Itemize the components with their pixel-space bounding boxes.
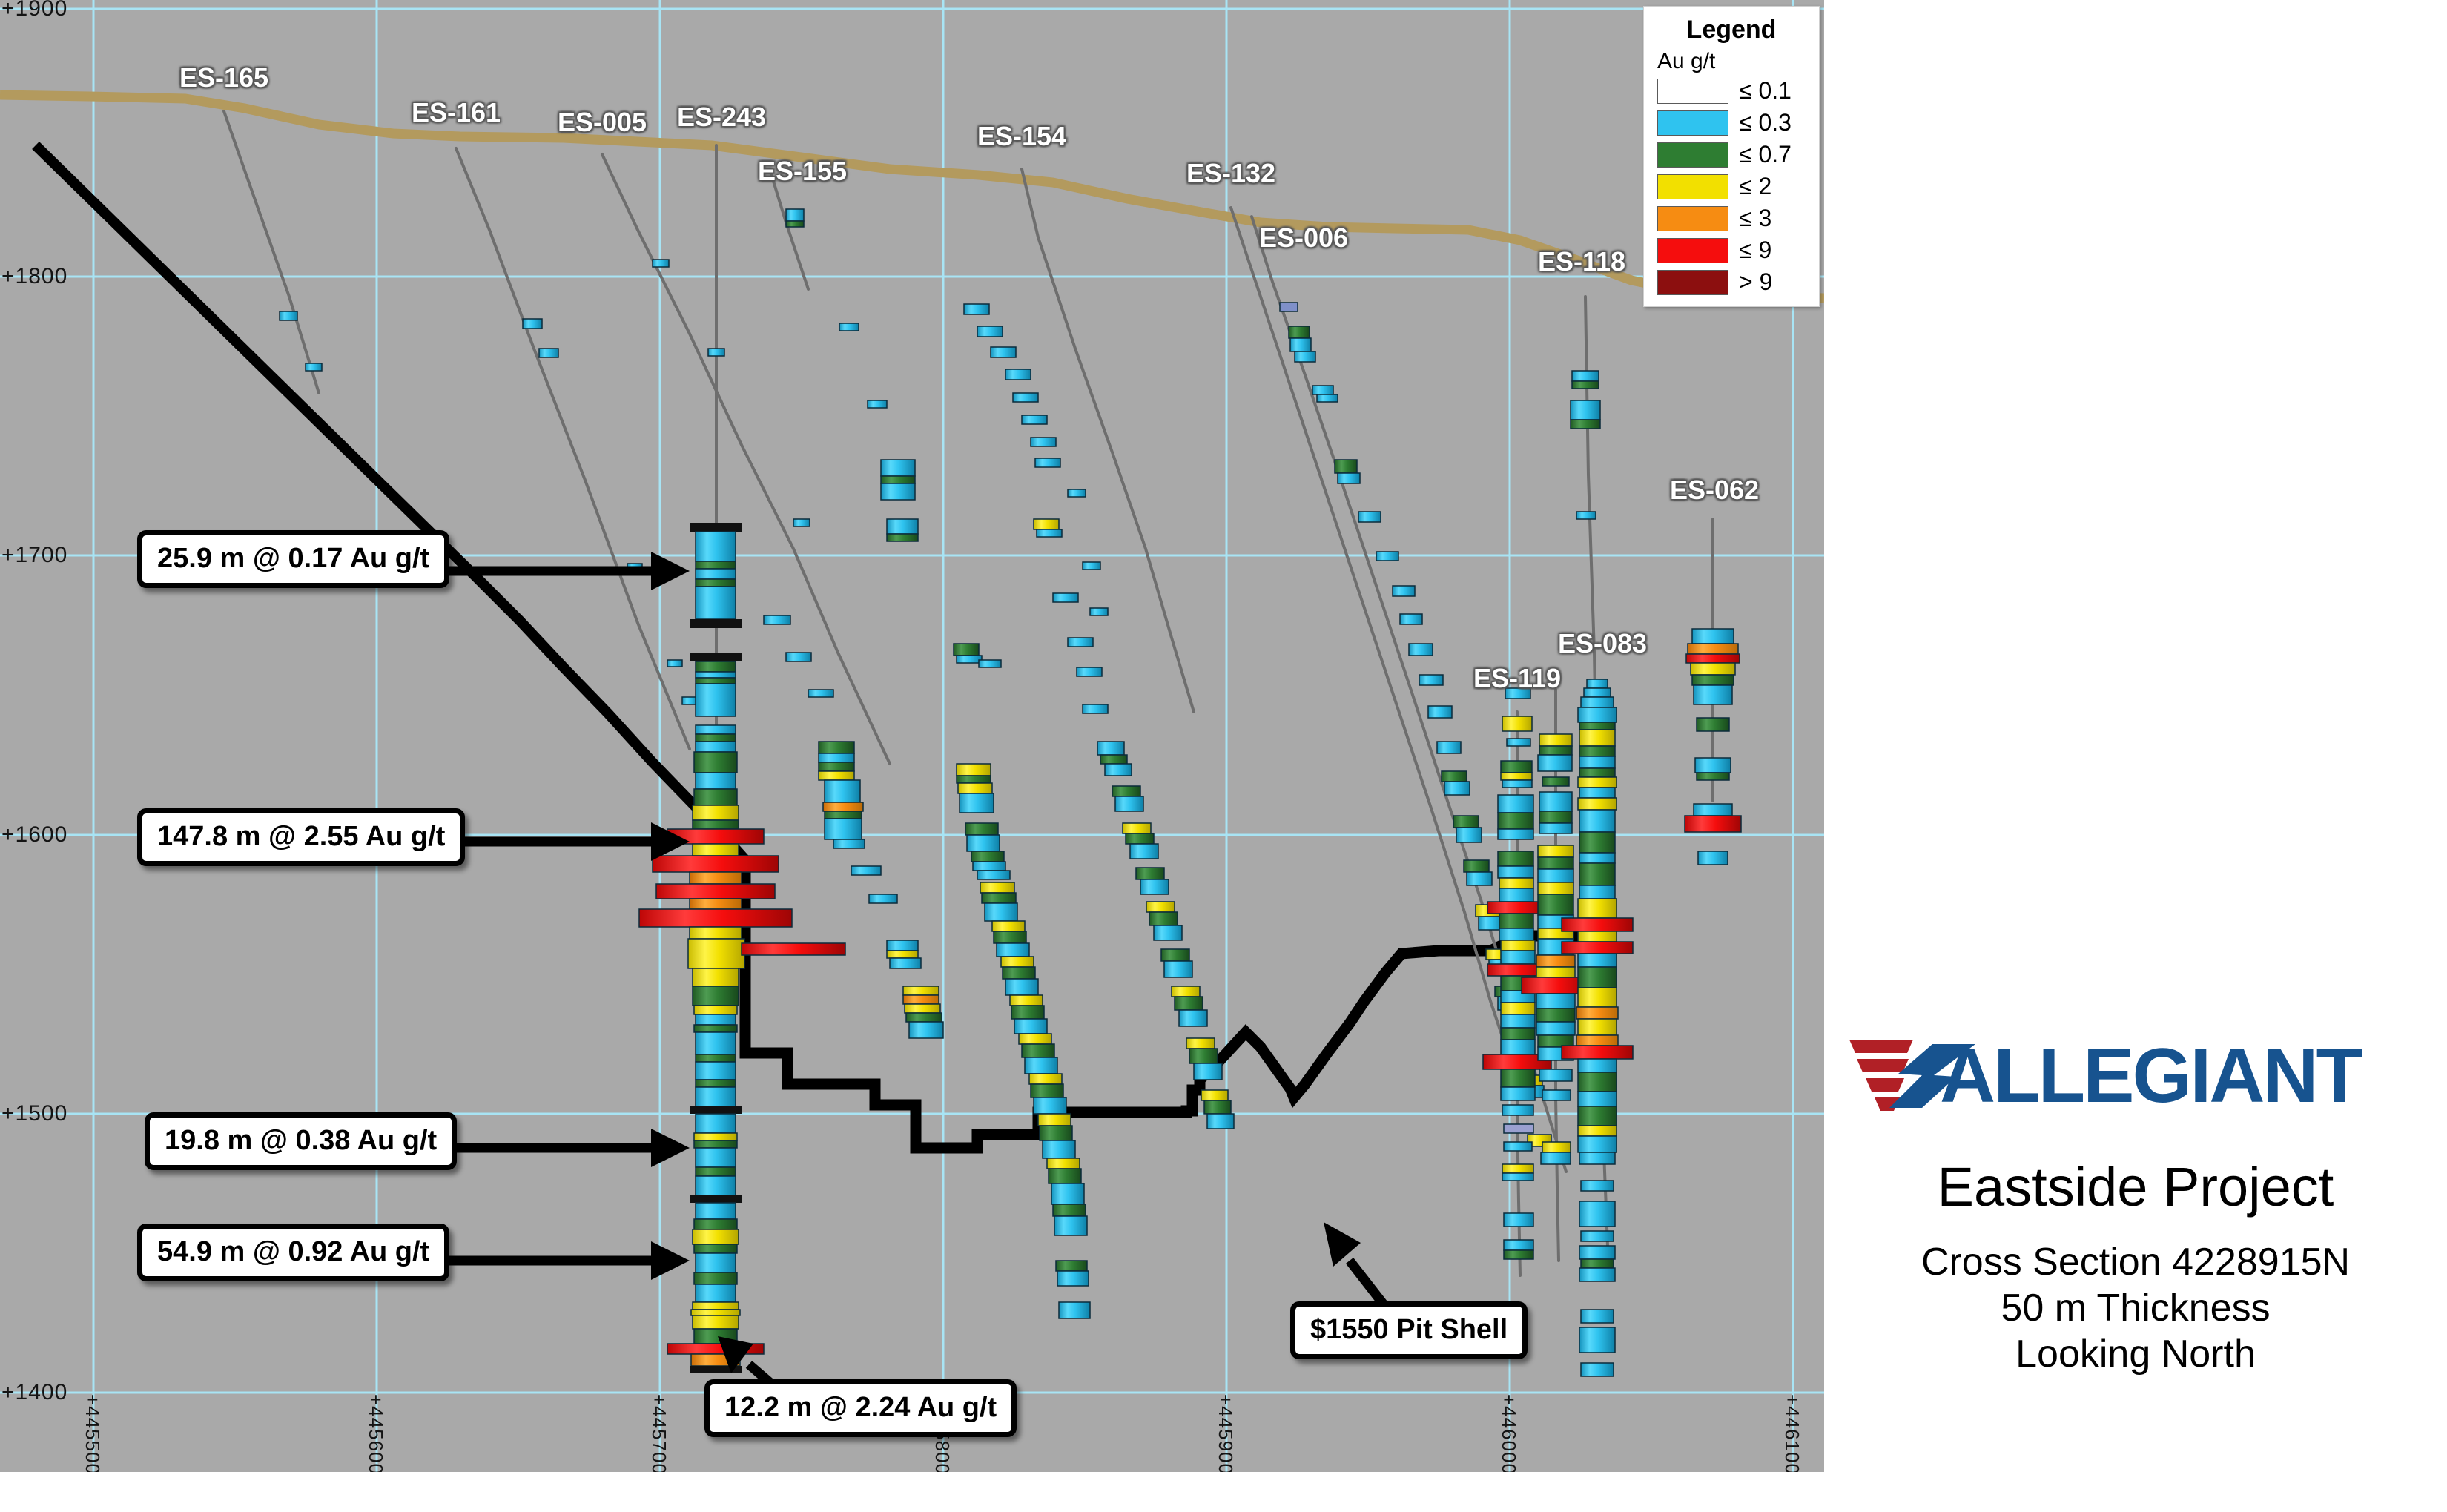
- legend-label-4: ≤ 3: [1739, 205, 1771, 232]
- legend-label-1: ≤ 0.3: [1739, 109, 1792, 136]
- y-tick: +1600: [1, 822, 67, 848]
- legend-item: ≤ 9: [1657, 237, 1810, 264]
- legend-swatch-0: [1657, 79, 1728, 104]
- section-line-2: 50 m Thickness: [1824, 1286, 2447, 1330]
- topography-line: [0, 95, 1824, 298]
- project-title: Eastside Project: [1824, 1155, 2447, 1218]
- legend-swatch-2: [1657, 142, 1728, 168]
- legend-item: ≤ 0.3: [1657, 109, 1810, 136]
- callout-pit-shell: $1550 Pit Shell: [1290, 1301, 1528, 1359]
- callout-arrows: [378, 552, 1401, 1409]
- x-tick: +446100 E: [1780, 1394, 1803, 1472]
- y-tick: +1500: [1, 1101, 67, 1126]
- legend-unit: Au g/t: [1657, 49, 1810, 74]
- assay-intervals-es118: [1571, 371, 1600, 519]
- allegiant-logo: ALLEGIANT: [1845, 1031, 2431, 1120]
- assay-intervals-es155-deep: [742, 764, 1090, 1318]
- legend-panel: Legend Au g/t ≤ 0.1 ≤ 0.3 ≤ 0.7 ≤ 2 ≤ 3: [1643, 6, 1820, 307]
- legend-title: Legend: [1653, 16, 1810, 44]
- legend-label-3: ≤ 2: [1739, 173, 1771, 200]
- y-tick: +1800: [1, 264, 67, 289]
- assay-intervals-es161-deep: [819, 742, 943, 1038]
- y-tick: +1400: [1, 1380, 67, 1405]
- pit-shell-west-wall: [36, 145, 727, 839]
- section-line-3: Looking North: [1824, 1332, 2447, 1376]
- callout-intercept-3: 19.8 m @ 0.38 Au g/t: [145, 1112, 457, 1170]
- assay-intervals-es132: [964, 304, 1234, 1129]
- section-line-1: Cross Section 4228915N: [1824, 1240, 2447, 1284]
- y-tick: +1700: [1, 543, 67, 568]
- x-tick: +445600 E: [364, 1394, 387, 1472]
- legend-item: ≤ 3: [1657, 205, 1810, 232]
- assay-intervals-es005: [653, 260, 810, 526]
- cross-section-panel: +1900 +1800 +1700 +1600 +1500 +1400 +445…: [0, 0, 1824, 1472]
- legend-item: ≤ 2: [1657, 173, 1810, 200]
- bottom-margin: [0, 1472, 1824, 1512]
- logo-wordmark: ALLEGIANT: [1940, 1033, 2363, 1119]
- x-tick: +446000 E: [1497, 1394, 1520, 1472]
- assay-intervals-es165: [280, 311, 322, 371]
- legend-swatch-5: [1657, 238, 1728, 263]
- callout-intercept-1: 25.9 m @ 0.17 Au g/t: [137, 530, 449, 588]
- title-panel: ALLEGIANT Eastside Project Cross Section…: [1824, 0, 2447, 1512]
- assay-intervals-es154: [839, 323, 1108, 667]
- legend-label-5: ≤ 9: [1739, 237, 1771, 264]
- legend-swatch-6: [1657, 270, 1728, 295]
- callout-intercept-5: 12.2 m @ 2.24 Au g/t: [704, 1379, 1017, 1437]
- cross-section-figure: +1900 +1800 +1700 +1600 +1500 +1400 +445…: [0, 0, 2447, 1512]
- x-tick: +445700 E: [647, 1394, 670, 1472]
- legend-swatch-3: [1657, 174, 1728, 199]
- legend-label-6: > 9: [1739, 268, 1772, 296]
- x-tick: +445500 E: [81, 1394, 104, 1472]
- callout-intercept-2: 147.8 m @ 2.55 Au g/t: [137, 808, 465, 866]
- legend-item: ≤ 0.7: [1657, 141, 1810, 168]
- callout-intercept-4: 54.9 m @ 0.92 Au g/t: [137, 1224, 449, 1281]
- y-tick: +1900: [1, 0, 67, 22]
- legend-swatch-1: [1657, 110, 1728, 136]
- legend-item: > 9: [1657, 268, 1810, 296]
- legend-item: ≤ 0.1: [1657, 77, 1810, 105]
- x-tick: +445900 E: [1214, 1394, 1237, 1472]
- legend-swatch-4: [1657, 206, 1728, 231]
- legend-label-0: ≤ 0.1: [1739, 77, 1792, 105]
- assay-intervals-es155: [786, 209, 804, 227]
- legend-label-2: ≤ 0.7: [1739, 141, 1792, 168]
